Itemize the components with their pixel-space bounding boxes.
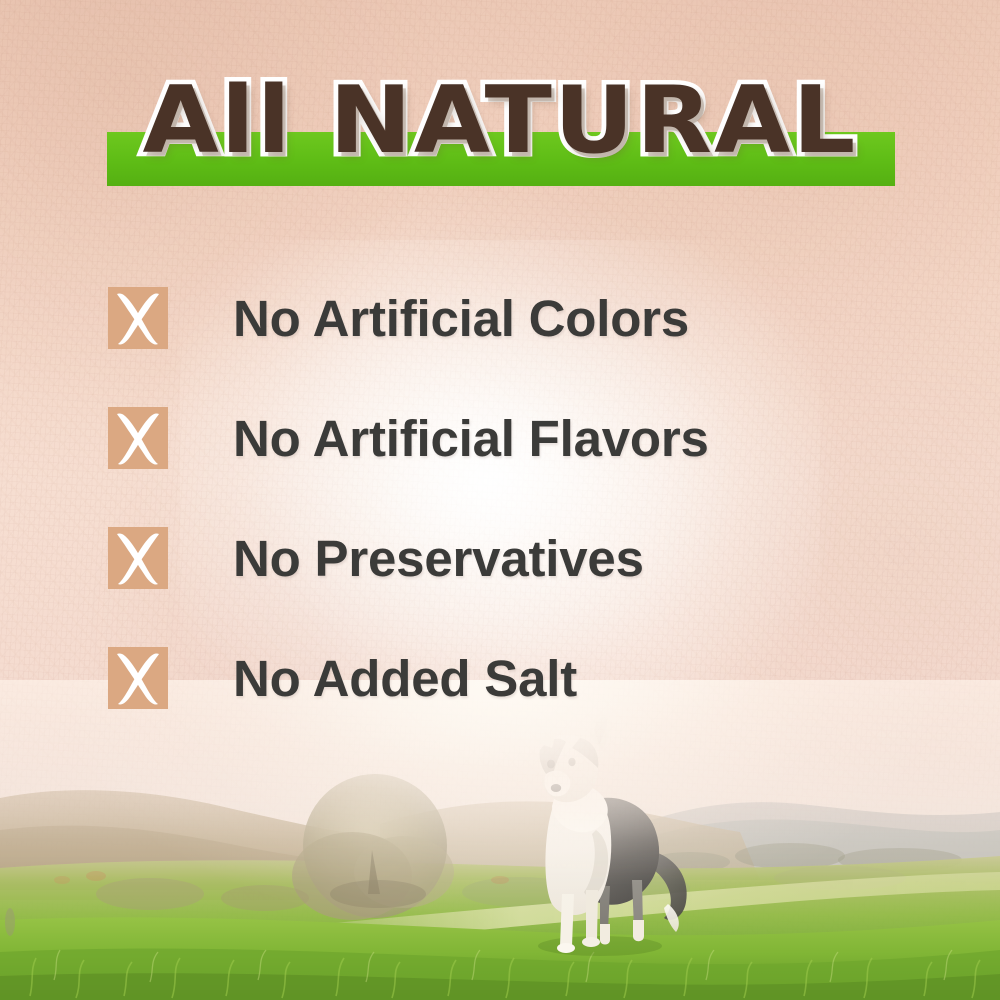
claim-label: No Artificial Flavors: [233, 409, 709, 468]
list-item: No Preservatives: [108, 498, 938, 618]
list-item: No Artificial Colors: [108, 258, 938, 378]
x-mark-icon: [108, 647, 168, 709]
claim-label: No Preservatives: [233, 529, 644, 588]
all-natural-product-graphic: All NATURAL No Artificial Colors No Arti…: [0, 0, 1000, 1000]
x-mark-icon: [108, 527, 168, 589]
x-mark-icon: [108, 287, 168, 349]
claim-label: No Added Salt: [233, 649, 577, 708]
claim-label: No Artificial Colors: [233, 289, 689, 348]
x-mark-icon: [108, 407, 168, 469]
page-title: All NATURAL: [0, 74, 1000, 167]
claims-list: No Artificial Colors No Artificial Flavo…: [108, 258, 938, 738]
list-item: No Artificial Flavors: [108, 378, 938, 498]
list-item: No Added Salt: [108, 618, 938, 738]
